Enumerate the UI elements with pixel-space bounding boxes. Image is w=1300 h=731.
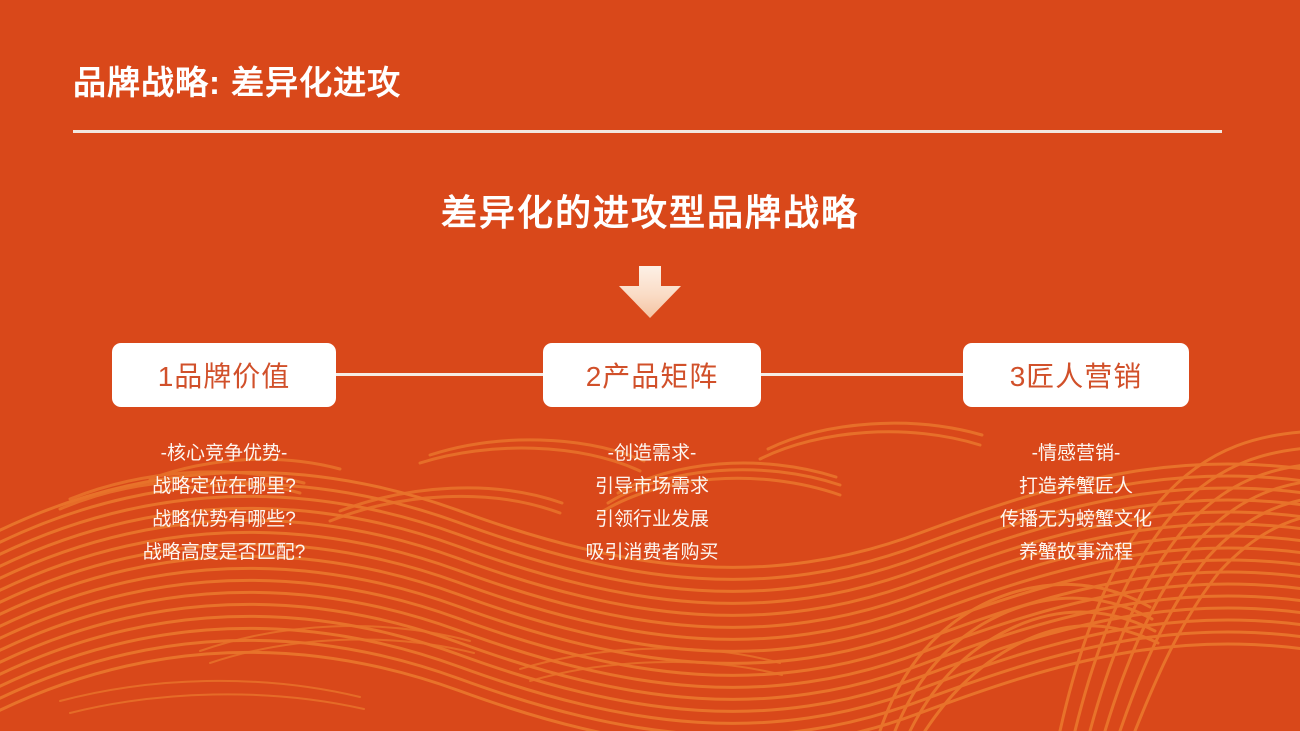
pillar-box-craftsman-marketing[interactable]: 3匠人营销: [963, 343, 1189, 407]
detail-line: -情感营销-: [955, 437, 1197, 470]
detail-line: 传播无为螃蟹文化: [955, 503, 1197, 536]
pillar-box-product-matrix[interactable]: 2产品矩阵: [543, 343, 761, 407]
detail-line: 养蟹故事流程: [955, 536, 1197, 569]
detail-line: 打造养蟹匠人: [955, 470, 1197, 503]
slide-canvas: 品牌战略: 差异化进攻 差异化的进攻型品牌战略 1品牌价值 2产品矩阵 3匠人营…: [0, 0, 1300, 731]
detail-column-product-matrix: -创造需求- 引导市场需求 引领行业发展 吸引消费者购买: [528, 437, 776, 569]
title-divider: [73, 130, 1222, 133]
detail-column-craftsman-marketing: -情感营销- 打造养蟹匠人 传播无为螃蟹文化 养蟹故事流程: [955, 437, 1197, 569]
connector-line-2: [755, 373, 970, 376]
pillar-label: 2产品矩阵: [586, 355, 719, 395]
page-title: 品牌战略: 差异化进攻: [73, 56, 401, 104]
main-heading: 差异化的进攻型品牌战略: [0, 184, 1300, 236]
detail-column-brand-value: -核心竞争优势- 战略定位在哪里? 战略优势有哪些? 战略高度是否匹配?: [112, 437, 336, 569]
detail-line: 战略定位在哪里?: [112, 470, 336, 503]
arrow-down-icon: [617, 266, 683, 318]
detail-line: -创造需求-: [528, 437, 776, 470]
detail-line: -核心竞争优势-: [112, 437, 336, 470]
pillar-label: 1品牌价值: [158, 355, 291, 395]
connector-line-1: [330, 373, 550, 376]
detail-line: 战略优势有哪些?: [112, 503, 336, 536]
pillar-label: 3匠人营销: [1010, 355, 1143, 395]
pillar-box-brand-value[interactable]: 1品牌价值: [112, 343, 336, 407]
detail-line: 引导市场需求: [528, 470, 776, 503]
detail-line: 战略高度是否匹配?: [112, 536, 336, 569]
detail-line: 引领行业发展: [528, 503, 776, 536]
detail-line: 吸引消费者购买: [528, 536, 776, 569]
